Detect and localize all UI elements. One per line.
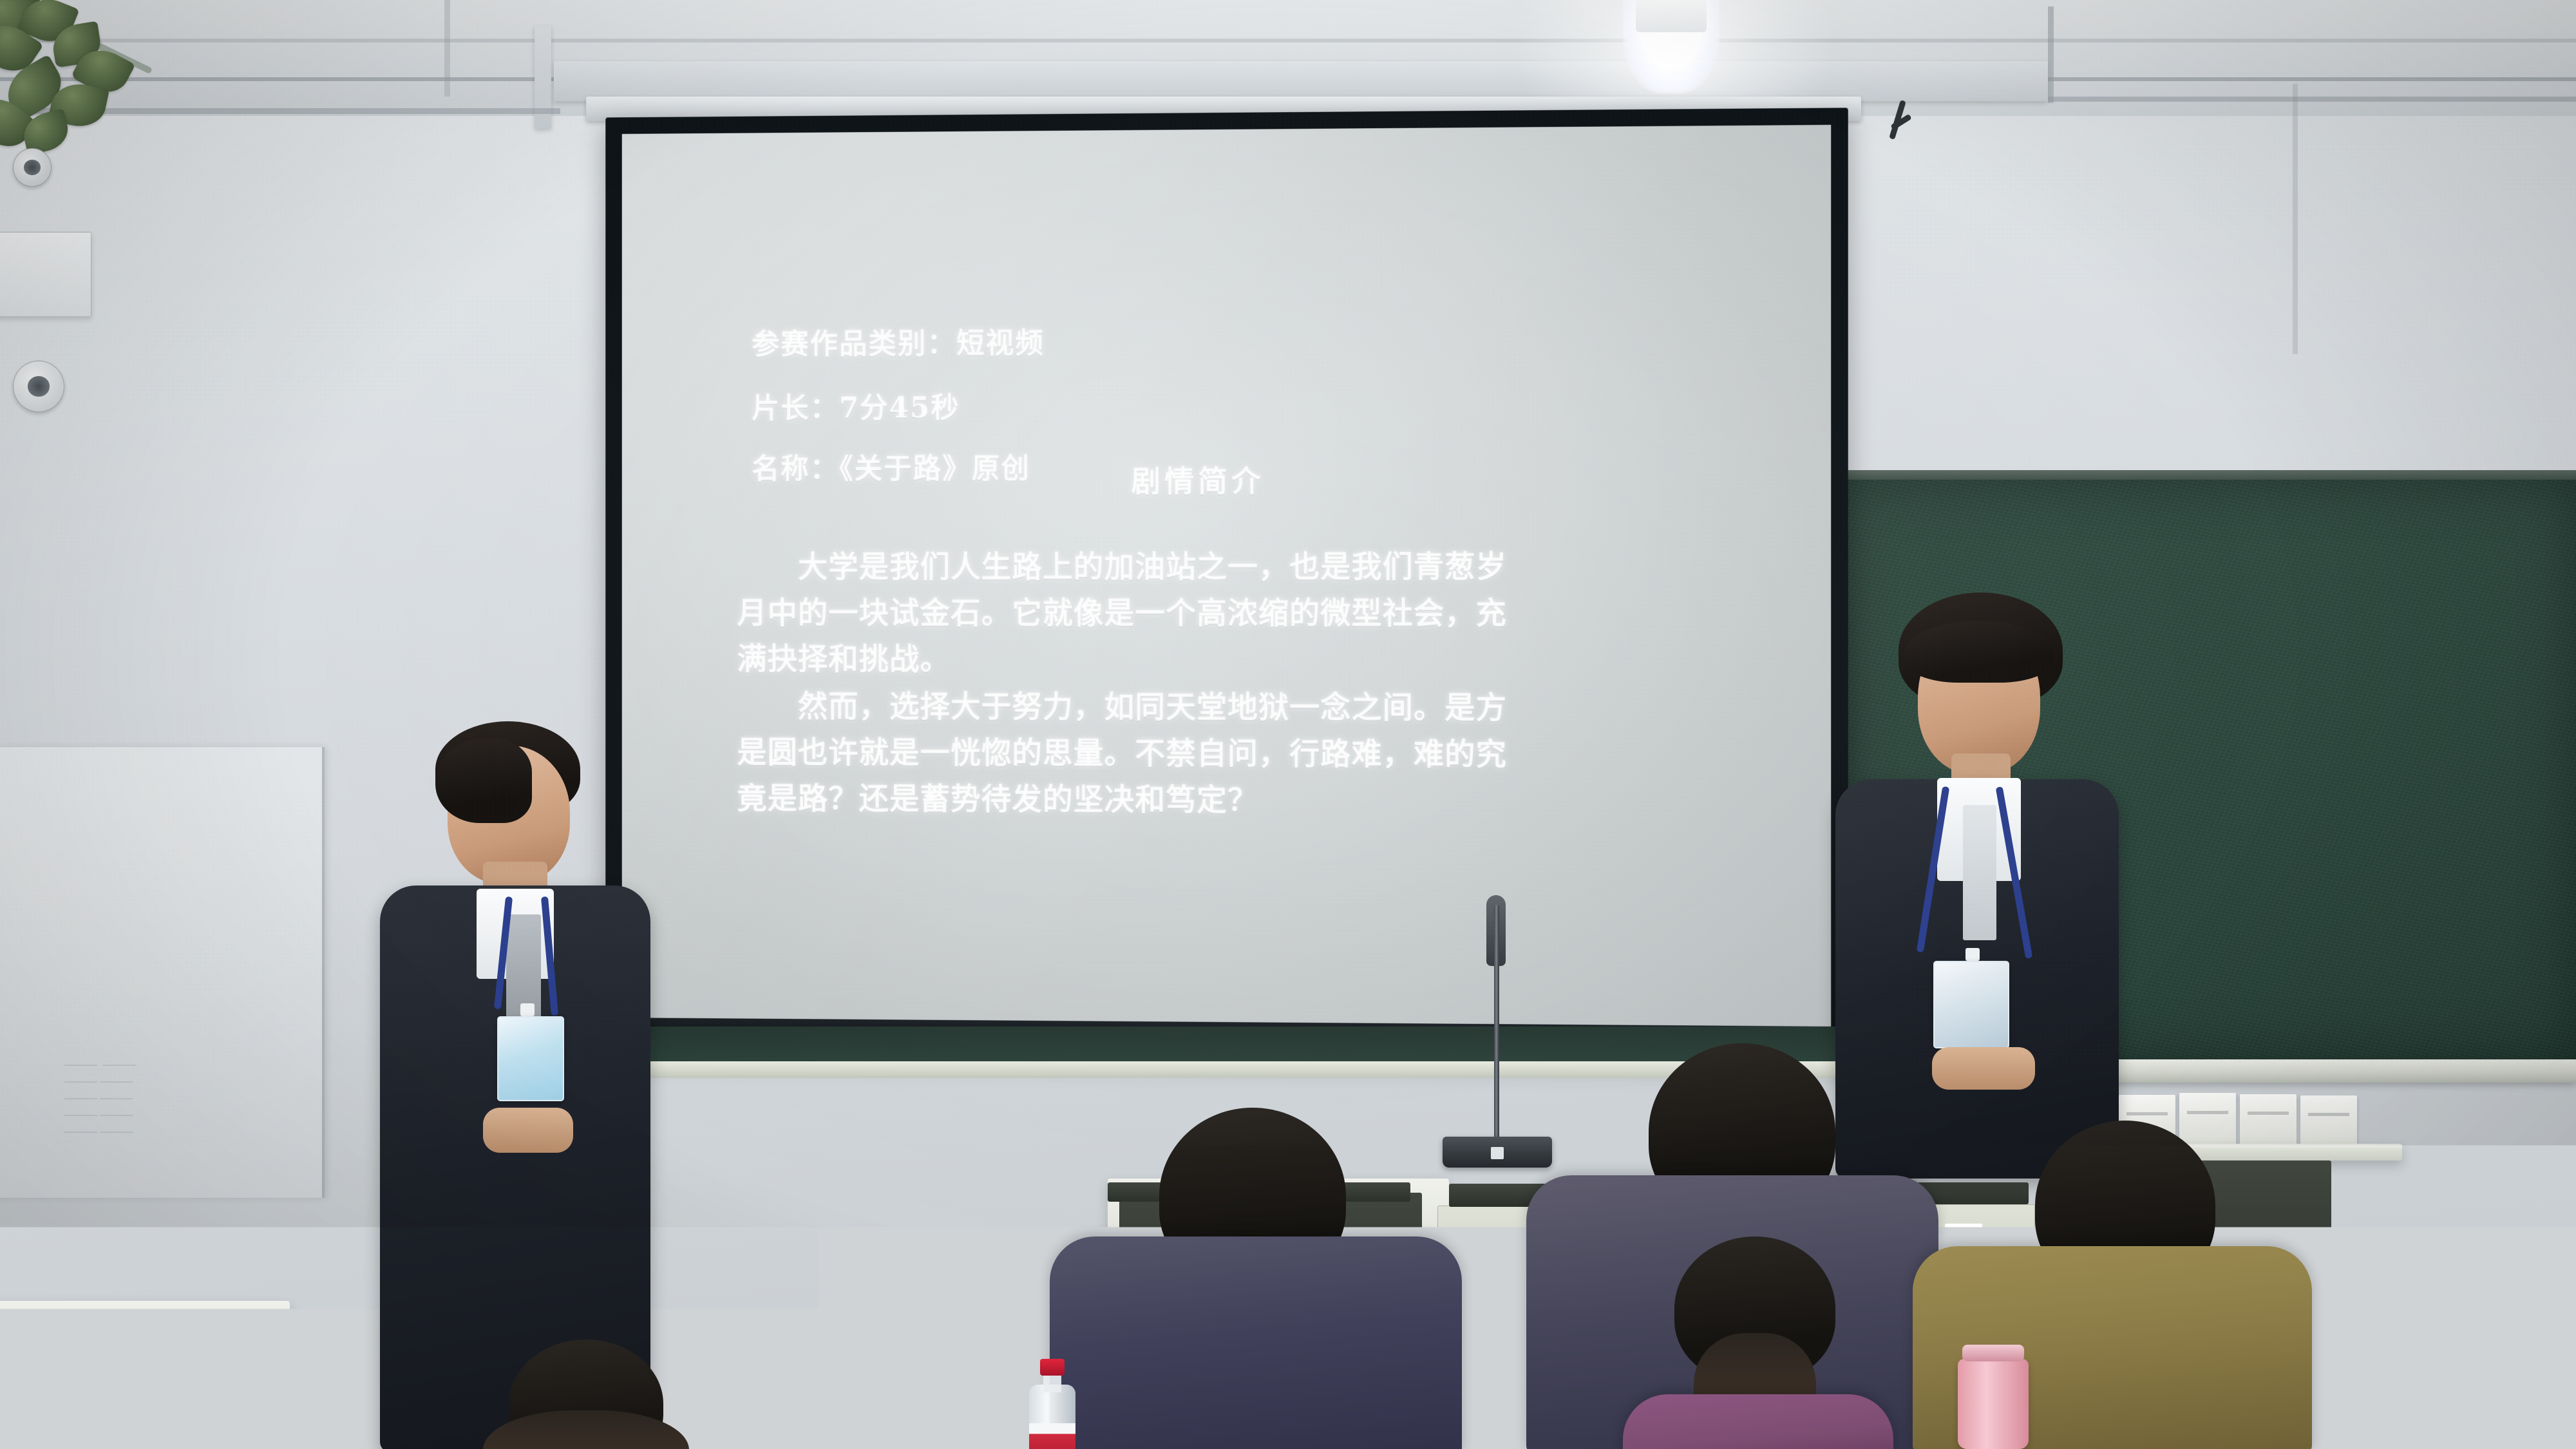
projection-screen: 参赛作品类别：短视频 片长：7分45秒 名称：《关于路》原创 剧情简介 大学是我… (605, 108, 1848, 1057)
badge-clip-icon (1965, 948, 1980, 961)
ceiling-pipe (444, 0, 450, 97)
pink-thermos (1958, 1359, 2029, 1449)
ceiling-soffit (554, 61, 2048, 101)
slide-meta-line-3: 名称：《关于路》原创 (752, 446, 1030, 487)
slide-body-line-3: 满抉择和挑战。 (737, 634, 951, 678)
attendee-long-hair (1604, 1236, 1913, 1449)
bottle-label (1029, 1423, 1075, 1449)
presenter-hair-side (435, 738, 532, 823)
bottle-cap (2350, 1307, 2377, 1324)
audience-body-back (1623, 1394, 1893, 1449)
bottle-cap (1040, 1359, 1064, 1376)
classroom-presentation-photo: 参赛作品类别：短视频 片长：7分45秒 名称：《关于路》原创 剧情简介 大学是我… (0, 0, 2576, 1449)
audience-body-back (1050, 1236, 1462, 1449)
slide-body-line-4: 然而，选择大于努力，如同天堂地狱一念之间。是方 (737, 681, 1507, 727)
slide-body-line-6: 竟是路？还是蓄势待发的坚决和笃定？ (737, 773, 1258, 820)
badge-clip-icon (520, 1003, 535, 1016)
presenter-id-badge (1933, 961, 2009, 1048)
whiteboard-writing: ——— ——— ——— ——— ——— ——— ——— ——— ——— ——— (64, 1056, 136, 1140)
attendee-bottom-left (451, 1340, 721, 1449)
slide-section-title: 剧情简介 (1131, 458, 1265, 500)
slide-body-line-1: 大学是我们人生路上的加油站之一，也是我们青葱岁 (737, 542, 1507, 586)
presenter-hands (1932, 1047, 2035, 1090)
ceiling-seam-secondary (0, 39, 2576, 43)
wall-hook-icon (1887, 100, 1917, 150)
bottle-label (857, 1404, 913, 1449)
left-whiteboard: ——— ——— ——— ——— ——— ——— ——— ——— ——— ——— (0, 747, 325, 1198)
bottle-label (2338, 1404, 2389, 1449)
water-bottle-left (857, 1307, 913, 1449)
wall-sensor-icon (13, 148, 52, 187)
slide-meta-line-1: 参赛作品类别：短视频 (752, 320, 1045, 362)
projection-screen-surface: 参赛作品类别：短视频 片长：7分45秒 名称：《关于路》原创 剧情简介 大学是我… (622, 125, 1831, 1027)
presenter-tie (1963, 805, 1996, 940)
slide-meta-line-2: 片长：7分45秒 (752, 384, 960, 426)
judge-front-left (1056, 1108, 1468, 1449)
water-bottle-right (2338, 1307, 2389, 1449)
name-card (2300, 1095, 2357, 1146)
thermos-lid (1962, 1345, 2025, 1361)
slide-body-line-5: 是圆也许就是一恍惚的思量。不禁自问，行路难，难的究 (737, 727, 1507, 773)
wall-conduit-right (2048, 97, 2576, 102)
presenter-hands (483, 1108, 573, 1153)
ceiling-light-cap (1636, 0, 1707, 32)
water-bottle-center (1029, 1359, 1075, 1449)
slide-body-line-2: 月中的一块试金石。它就像是一个高浓缩的微型社会，充 (737, 588, 1507, 632)
ceiling-conduit-right (2048, 6, 2054, 103)
microphone-stem (1494, 905, 1499, 1143)
motion-sensor-icon (13, 361, 64, 412)
presenter-fringe (1905, 621, 2053, 683)
desk-vent (26, 1365, 213, 1421)
wall-mounted-box (0, 232, 91, 317)
wall-conduit-vertical (2293, 84, 2298, 354)
bottle-cap (870, 1307, 900, 1324)
presenter-id-badge (497, 1016, 564, 1101)
